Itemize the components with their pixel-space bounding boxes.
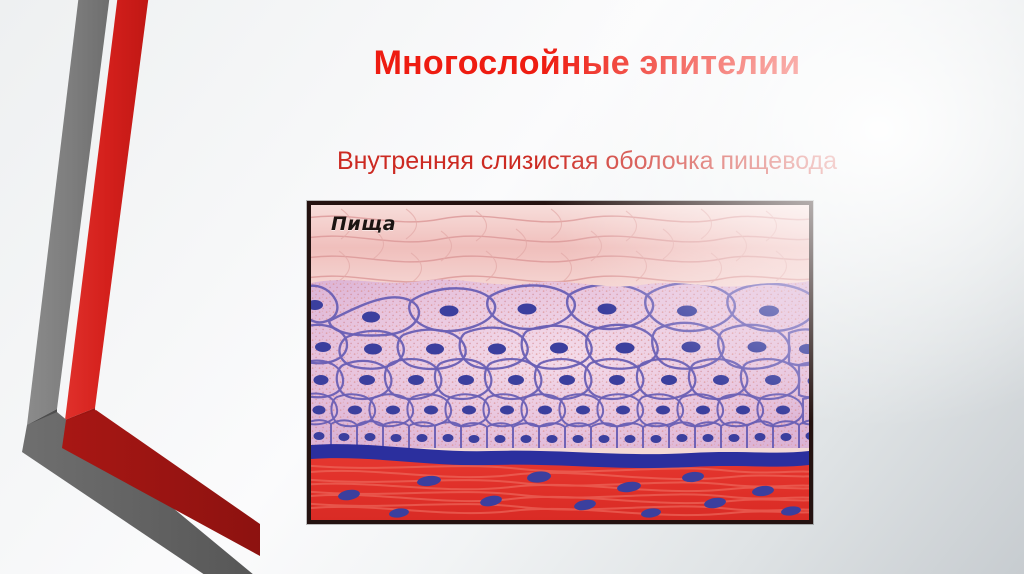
layer-connective-tissue — [311, 458, 809, 520]
epithelium-illustration — [311, 205, 809, 520]
page-title: Многослойные эпителии — [150, 44, 1024, 83]
chevron-gray-lower — [22, 412, 260, 574]
page-subtitle: Внутренняя слизистая оболочка пищевода — [150, 146, 1024, 176]
slide-canvas: Многослойные эпителии Внутренняя слизист… — [0, 0, 1024, 574]
micrograph-figure: Пища — [307, 201, 813, 524]
banded-chevron-decoration — [0, 0, 260, 574]
layer-stratified-squamous-epithelium — [311, 275, 809, 455]
subtitle-container: Внутренняя слизистая оболочка пищевода — [0, 146, 1024, 176]
title-container: Многослойные эпителии — [0, 44, 1024, 83]
